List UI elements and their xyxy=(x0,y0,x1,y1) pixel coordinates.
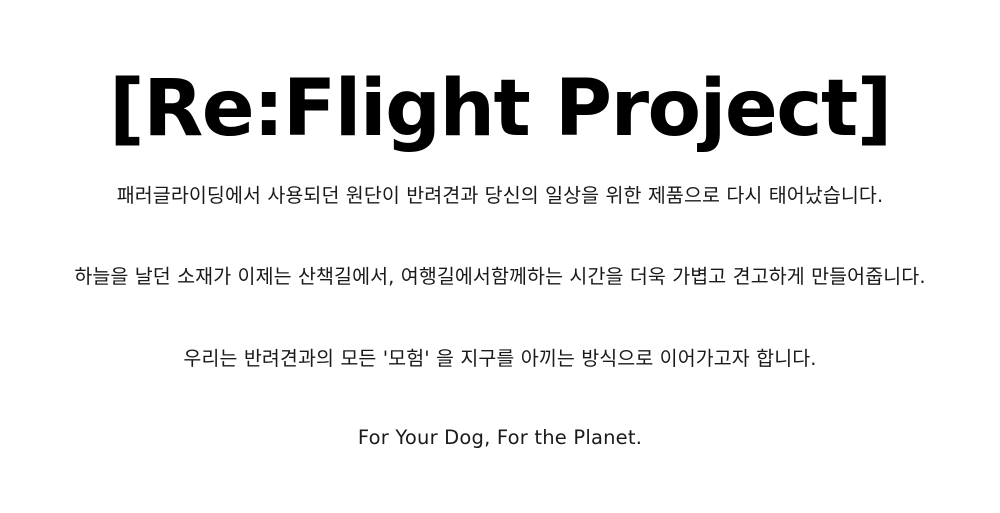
brand-story-page: [Re:Flight Project] 패러글라이딩에서 사용되던 원단이 반려… xyxy=(0,0,1000,513)
page-title: [Re:Flight Project] xyxy=(0,66,1000,153)
story-paragraph-1: 패러글라이딩에서 사용되던 원단이 반려견과 당신의 일상을 위한 제품으로 다… xyxy=(0,183,1000,209)
brand-tagline: For Your Dog, For the Planet. xyxy=(0,425,1000,451)
story-paragraph-3: 우리는 반려견과의 모든 '모험' 을 지구를 아끼는 방식으로 이어가고자 합… xyxy=(0,346,1000,372)
story-paragraph-2: 하늘을 날던 소재가 이제는 산책길에서, 여행길에서함께하는 시간을 더욱 가… xyxy=(0,264,1000,290)
brand-story-body: 패러글라이딩에서 사용되던 원단이 반려견과 당신의 일상을 위한 제품으로 다… xyxy=(0,170,1000,471)
